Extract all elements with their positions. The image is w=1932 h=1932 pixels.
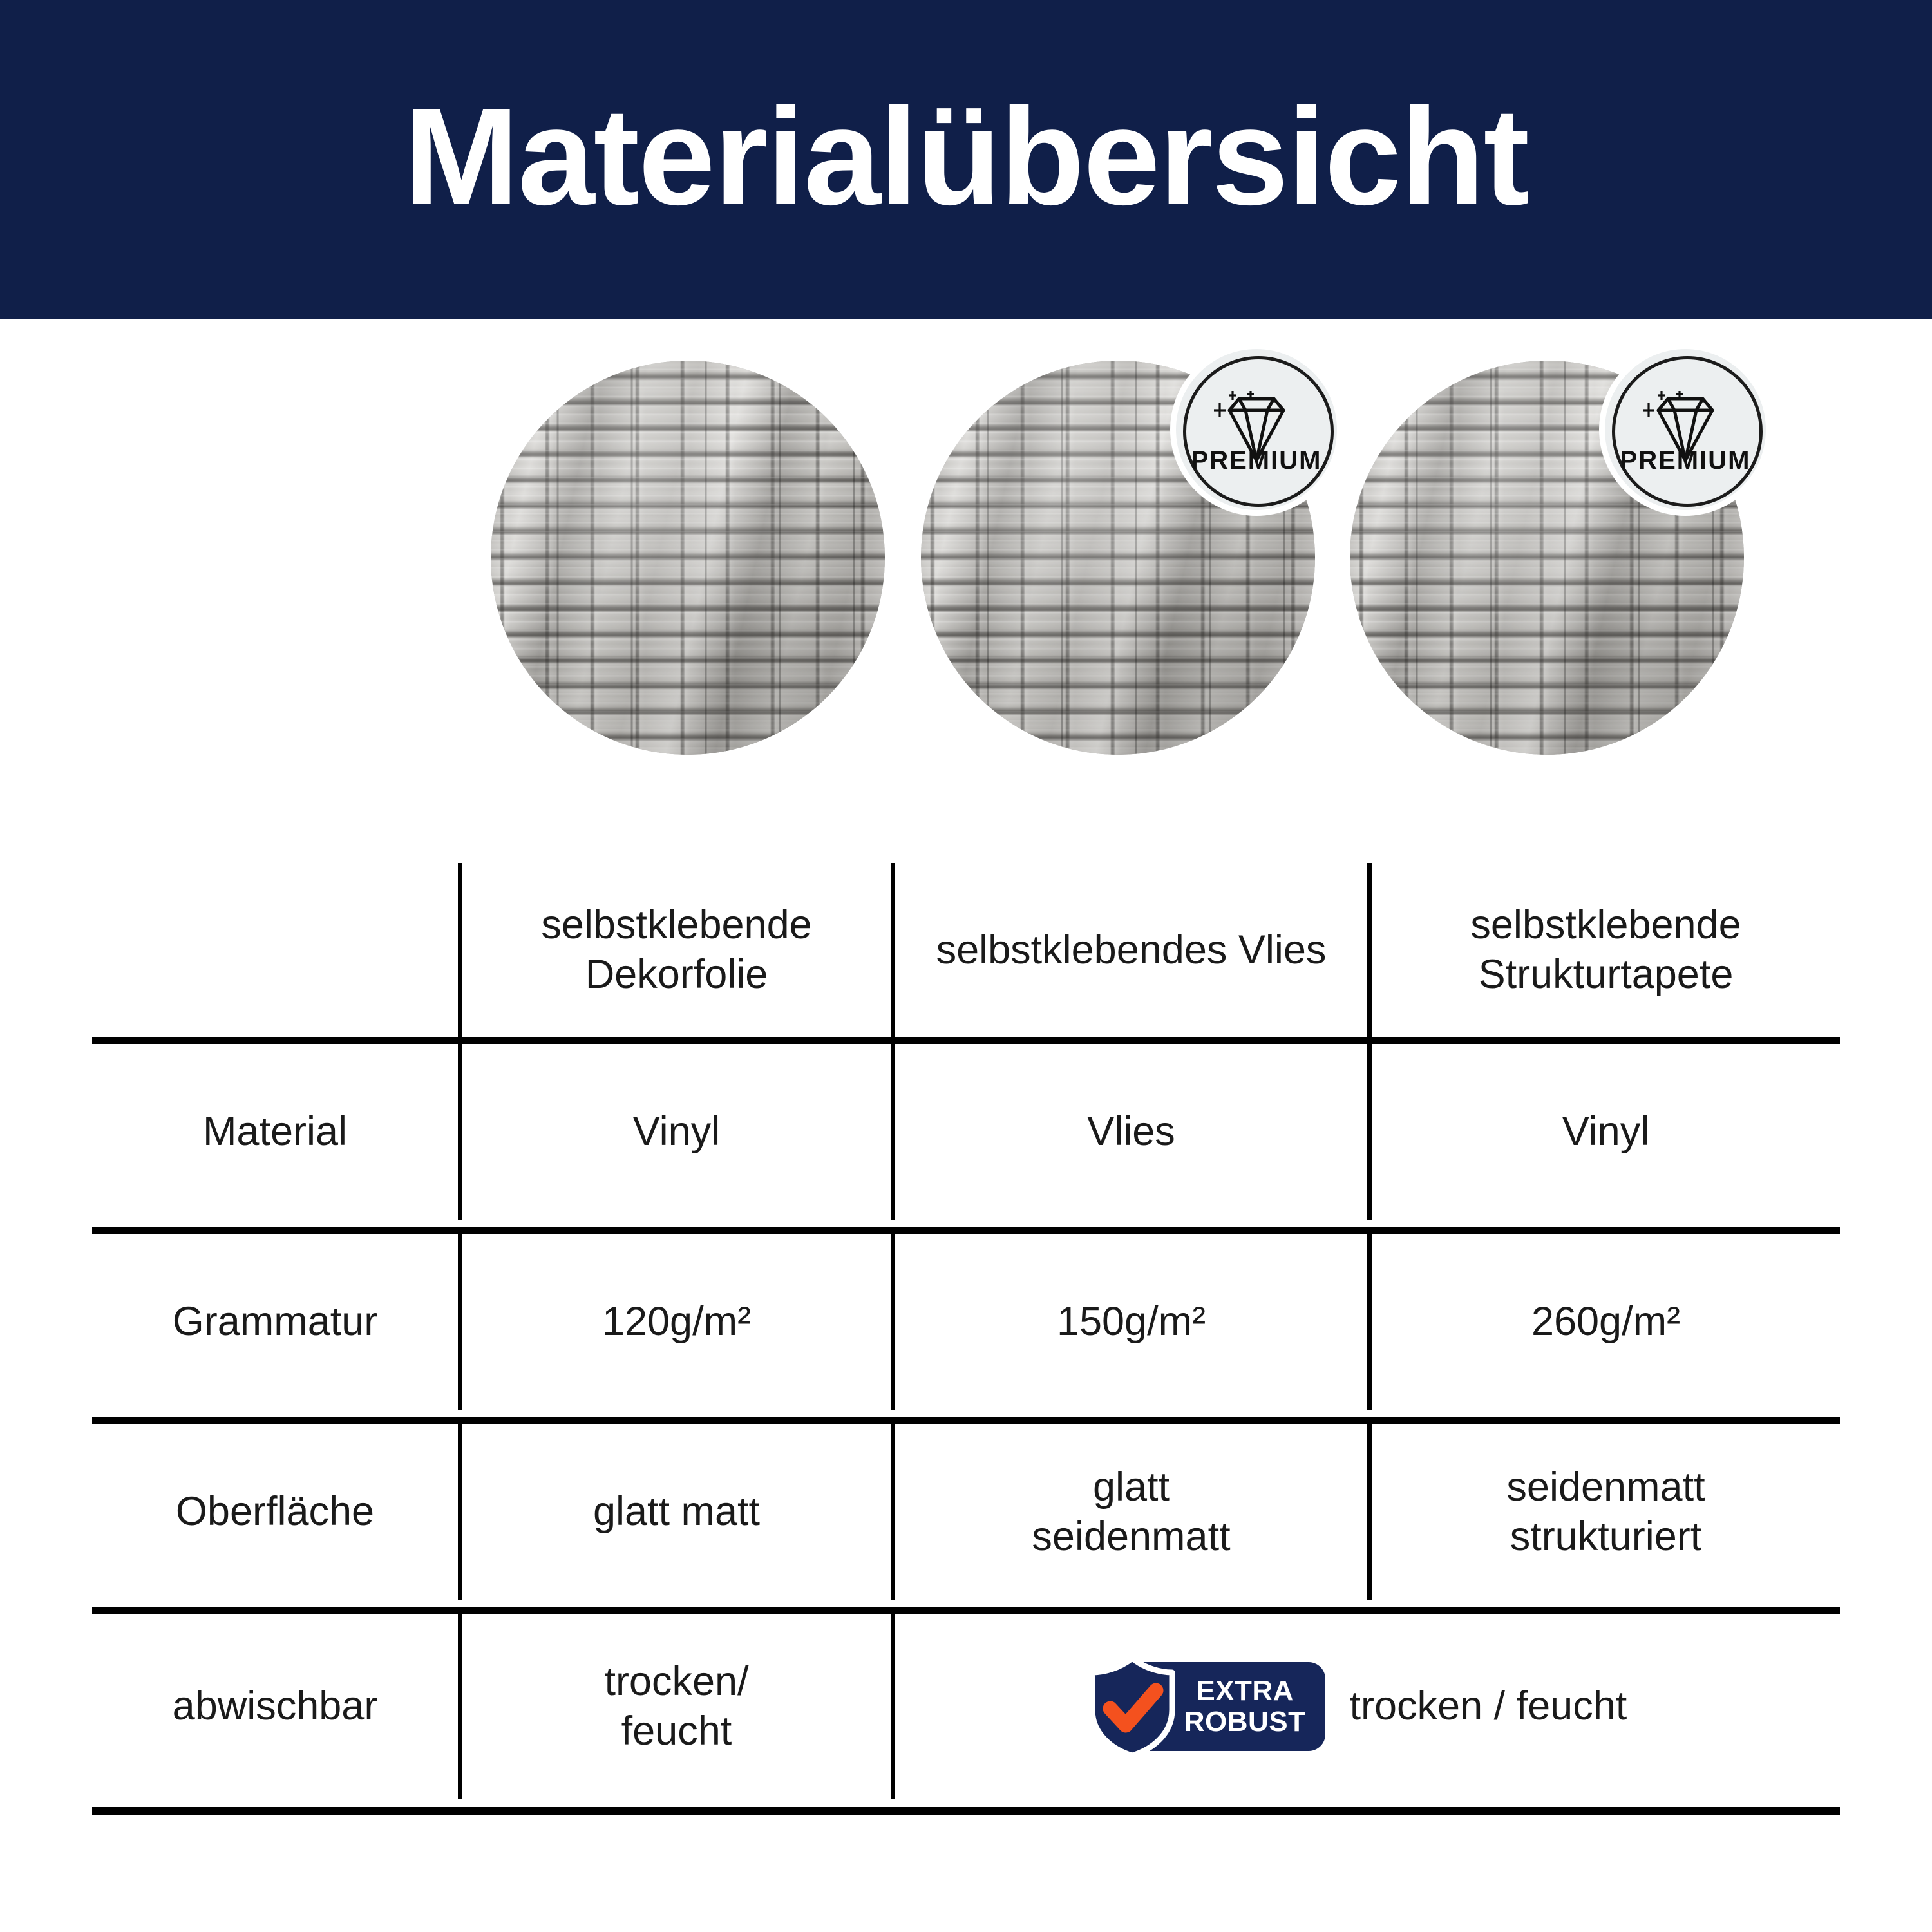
extra-robust-line2: ROBUST (1184, 1707, 1306, 1737)
cell-oberflaeche-vlies: glattseidenmatt (891, 1424, 1367, 1600)
row-label-oberflaeche: Oberfläche (92, 1424, 458, 1600)
premium-badge-ring (1183, 356, 1334, 507)
premium-badge: PREMIUM (1176, 349, 1337, 510)
shield-check-icon (1084, 1654, 1180, 1759)
cell-abwischbar-merged: EXTRA ROBUST trocken / feucht (891, 1614, 1840, 1799)
extra-robust-text: EXTRA ROBUST (1184, 1676, 1306, 1736)
cell-abwischbar-value-merged: trocken / feucht (1350, 1681, 1627, 1731)
material-overview-page: Materialübersicht (0, 0, 1932, 1932)
premium-badge: PREMIUM (1605, 349, 1766, 510)
row-label-grammatur: Grammatur (92, 1234, 458, 1410)
table-row-material: Material Vinyl Vlies Vinyl (92, 1037, 1840, 1227)
cell-oberflaeche-dekorfolie: glatt matt (458, 1424, 891, 1600)
extra-robust-badge: EXTRA ROBUST (1108, 1662, 1325, 1751)
table-row-oberflaeche: Oberfläche glatt matt glattseidenmatt se… (92, 1417, 1840, 1607)
table-row-abwischbar: abwischbar trocken/feucht EXTRA ROBUST (92, 1607, 1840, 1815)
page-header: Materialübersicht (0, 0, 1932, 319)
table-corner-cell (92, 863, 458, 1037)
table-header-dekorfolie: selbstklebende Dekorfolie (458, 863, 891, 1037)
swatch-item-vlies[interactable]: PREMIUM (921, 361, 1315, 755)
stone-texture (491, 361, 885, 755)
cell-oberflaeche-strukturtapete: seidenmattstrukturiert (1367, 1424, 1840, 1600)
cell-abwischbar-dekorfolie: trocken/feucht (458, 1614, 891, 1799)
premium-badge-label: PREMIUM (1176, 446, 1337, 475)
premium-badge-ring (1612, 356, 1763, 507)
cell-grammatur-dekorfolie: 120g/m² (458, 1234, 891, 1410)
material-comparison-table: selbstklebende Dekorfolie selbstklebende… (92, 863, 1840, 1815)
swatch-item-strukturtapete[interactable]: PREMIUM (1350, 361, 1744, 755)
extra-robust-line1: EXTRA (1184, 1676, 1306, 1706)
table-row-grammatur: Grammatur 120g/m² 150g/m² 260g/m² (92, 1227, 1840, 1417)
cell-material-strukturtapete: Vinyl (1367, 1044, 1840, 1220)
cell-material-dekorfolie: Vinyl (458, 1044, 891, 1220)
row-label-abwischbar: abwischbar (92, 1614, 458, 1799)
table-header-row: selbstklebende Dekorfolie selbstklebende… (92, 863, 1840, 1037)
swatch-row: PREMIUM (0, 361, 1932, 766)
cell-grammatur-strukturtapete: 260g/m² (1367, 1234, 1840, 1410)
premium-badge-label: PREMIUM (1605, 446, 1766, 475)
table-header-vlies: selbstklebendes Vlies (891, 863, 1367, 1037)
page-title: Materialübersicht (404, 87, 1528, 225)
table-header-strukturtapete: selbstklebende Strukturtapete (1367, 863, 1840, 1037)
swatch-item-dekorfolie[interactable] (491, 361, 885, 755)
swatch-image-dekorfolie (491, 361, 885, 755)
cell-grammatur-vlies: 150g/m² (891, 1234, 1367, 1410)
cell-material-vlies: Vlies (891, 1044, 1367, 1220)
row-label-material: Material (92, 1044, 458, 1220)
